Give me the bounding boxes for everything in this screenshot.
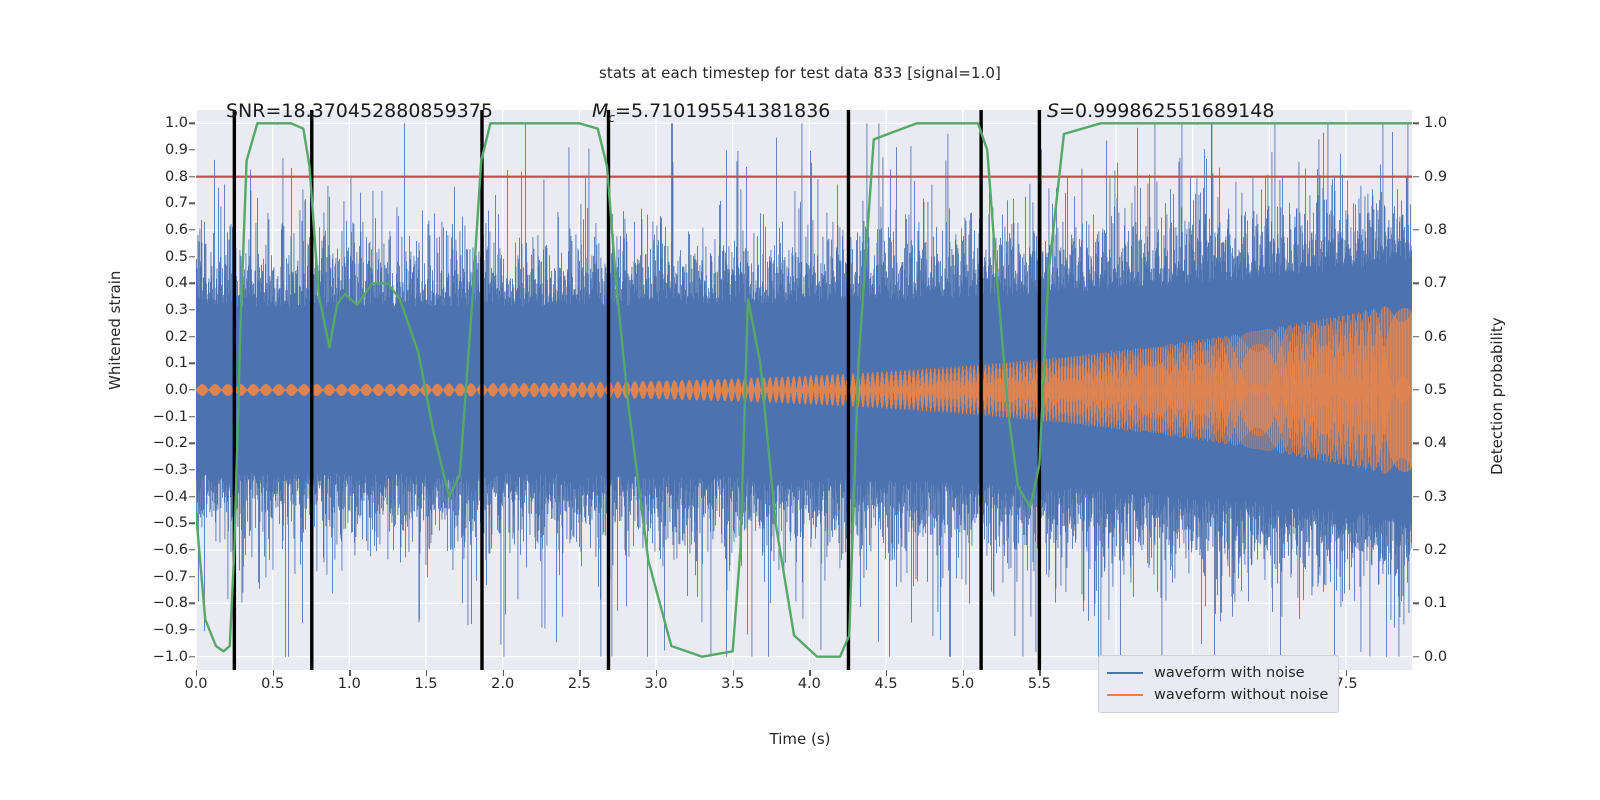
y-tick-label-left: 0.5 <box>128 249 188 265</box>
y-tick-label-right: 0.8 <box>1424 222 1484 238</box>
y-tick-label-left: −0.1 <box>128 409 188 425</box>
y-tick-label-left: −0.8 <box>128 595 188 611</box>
y-tick-label-right: 0.4 <box>1424 435 1484 451</box>
x-tick-label: 5.5 <box>1009 676 1069 692</box>
y-tick-label-left: −0.5 <box>128 515 188 531</box>
y-tick-label-left: 0.2 <box>128 329 188 345</box>
figure-canvas: stats at each timestep for test data 833… <box>0 0 1600 800</box>
annotation-snr-value: 18.370452880859375 <box>281 100 493 122</box>
plot-area <box>196 110 1412 670</box>
legend-swatch-line <box>1107 694 1143 697</box>
y-tick-label-right: 1.0 <box>1424 115 1484 131</box>
segment-divider-line <box>847 110 850 670</box>
annotation-s-value: 0.999862551689148 <box>1075 100 1274 122</box>
y-tick-label-left: 0.0 <box>128 382 188 398</box>
legend-label: waveform with noise <box>1154 665 1305 681</box>
y-tick-mark-left <box>189 389 195 390</box>
y-tick-mark-right <box>1413 549 1419 550</box>
y-tick-mark-left <box>189 229 195 230</box>
legend-item-waveform-with-noise: waveform with noise <box>1107 662 1328 684</box>
y-tick-mark-right <box>1413 496 1419 497</box>
annotation-mc-equals: = <box>615 100 631 122</box>
y-tick-label-left: −0.6 <box>128 542 188 558</box>
annotation-chirp-mass: Mc=5.710195541381836 <box>592 100 830 125</box>
x-tick-label: 0.0 <box>166 676 226 692</box>
legend-item-waveform-without-noise: waveform without noise <box>1107 684 1328 706</box>
y-tick-label-left: 0.7 <box>128 195 188 211</box>
segment-divider-line <box>480 110 483 670</box>
y-tick-mark-left <box>189 629 195 630</box>
y-tick-label-left: 0.6 <box>128 222 188 238</box>
y-tick-mark-right <box>1413 656 1419 657</box>
y-tick-mark-right <box>1413 336 1419 337</box>
y-tick-mark-right <box>1413 389 1419 390</box>
y-tick-label-right: 0.1 <box>1424 595 1484 611</box>
x-tick-label: 2.5 <box>549 676 609 692</box>
segment-divider-line <box>1038 110 1041 670</box>
y-tick-mark-right <box>1413 176 1419 177</box>
y-tick-mark-left <box>189 576 195 577</box>
y-tick-label-left: 1.0 <box>128 115 188 131</box>
y-tick-label-right: 0.5 <box>1424 382 1484 398</box>
x-tick-label: 1.5 <box>396 676 456 692</box>
y-tick-mark-left <box>189 549 195 550</box>
x-tick-label: 4.5 <box>856 676 916 692</box>
y-tick-label-left: 0.8 <box>128 169 188 185</box>
annotation-score: S=0.999862551689148 <box>1047 100 1274 122</box>
y-tick-mark-left <box>189 443 195 444</box>
y-tick-label-left: 0.1 <box>128 355 188 371</box>
annotation-mc-symbol: M <box>592 100 608 122</box>
y-tick-mark-left <box>189 603 195 604</box>
y-tick-label-left: −0.9 <box>128 622 188 638</box>
y-tick-mark-left <box>189 336 195 337</box>
y-tick-mark-left <box>189 176 195 177</box>
x-tick-label: 1.0 <box>319 676 379 692</box>
y-tick-mark-right <box>1413 443 1419 444</box>
y-tick-label-right: 0.9 <box>1424 169 1484 185</box>
x-tick-label: 4.0 <box>779 676 839 692</box>
y-tick-mark-right <box>1413 603 1419 604</box>
plot-canvas <box>196 110 1412 670</box>
y-tick-mark-left <box>189 283 195 284</box>
y-tick-label-right: 0.7 <box>1424 275 1484 291</box>
threshold-line <box>196 176 1412 178</box>
x-tick-label: 3.0 <box>626 676 686 692</box>
y-tick-label-left: −0.3 <box>128 462 188 478</box>
annotation-s-symbol: S <box>1047 100 1059 122</box>
y-tick-label-left: −0.4 <box>128 489 188 505</box>
y-tick-label-right: 0.2 <box>1424 542 1484 558</box>
annotation-snr: SNR=18.370452880859375 <box>226 100 493 122</box>
y-tick-mark-left <box>189 309 195 310</box>
legend-label: waveform without noise <box>1154 687 1328 703</box>
annotation-mc-value: 5.710195541381836 <box>631 100 830 122</box>
figure-title: stats at each timestep for test data 833… <box>0 64 1600 82</box>
x-tick-label: 0.5 <box>243 676 303 692</box>
x-tick-label: 3.5 <box>703 676 763 692</box>
annotation-s-equals: = <box>1059 100 1075 122</box>
grid-line-horizontal <box>196 603 1412 604</box>
x-tick-label: 2.0 <box>473 676 533 692</box>
y-tick-mark-left <box>189 496 195 497</box>
y-tick-mark-left <box>189 123 195 124</box>
y-tick-mark-right <box>1413 229 1419 230</box>
y-tick-mark-left <box>189 203 195 204</box>
y-tick-mark-right <box>1413 283 1419 284</box>
y-tick-mark-left <box>189 469 195 470</box>
x-axis-label: Time (s) <box>0 730 1600 748</box>
legend: waveform with noise waveform without noi… <box>1098 655 1339 713</box>
y-tick-label-right: 0.0 <box>1424 649 1484 665</box>
y-tick-label-right: 0.6 <box>1424 329 1484 345</box>
y-tick-mark-left <box>189 256 195 257</box>
y-tick-label-left: 0.9 <box>128 142 188 158</box>
y-tick-label-left: 0.3 <box>128 302 188 318</box>
legend-swatch-line <box>1107 672 1143 675</box>
y-tick-label-left: −0.7 <box>128 569 188 585</box>
annotation-snr-label: SNR= <box>226 100 281 122</box>
y-axis-left-label: Whitened strain <box>106 271 124 390</box>
y-tick-label-left: −0.2 <box>128 435 188 451</box>
y-tick-label-left: 0.4 <box>128 275 188 291</box>
y-tick-mark-left <box>189 149 195 150</box>
y-tick-label-left: −1.0 <box>128 649 188 665</box>
y-tick-mark-left <box>189 523 195 524</box>
y-tick-mark-right <box>1413 123 1419 124</box>
y-tick-mark-left <box>189 416 195 417</box>
y-axis-right-label: Detection probability <box>1488 317 1506 475</box>
y-tick-mark-left <box>189 363 195 364</box>
segment-divider-line <box>979 110 982 670</box>
y-tick-mark-left <box>189 656 195 657</box>
grid-line-horizontal <box>196 229 1412 230</box>
x-tick-label: 5.0 <box>933 676 993 692</box>
y-tick-label-right: 0.3 <box>1424 489 1484 505</box>
